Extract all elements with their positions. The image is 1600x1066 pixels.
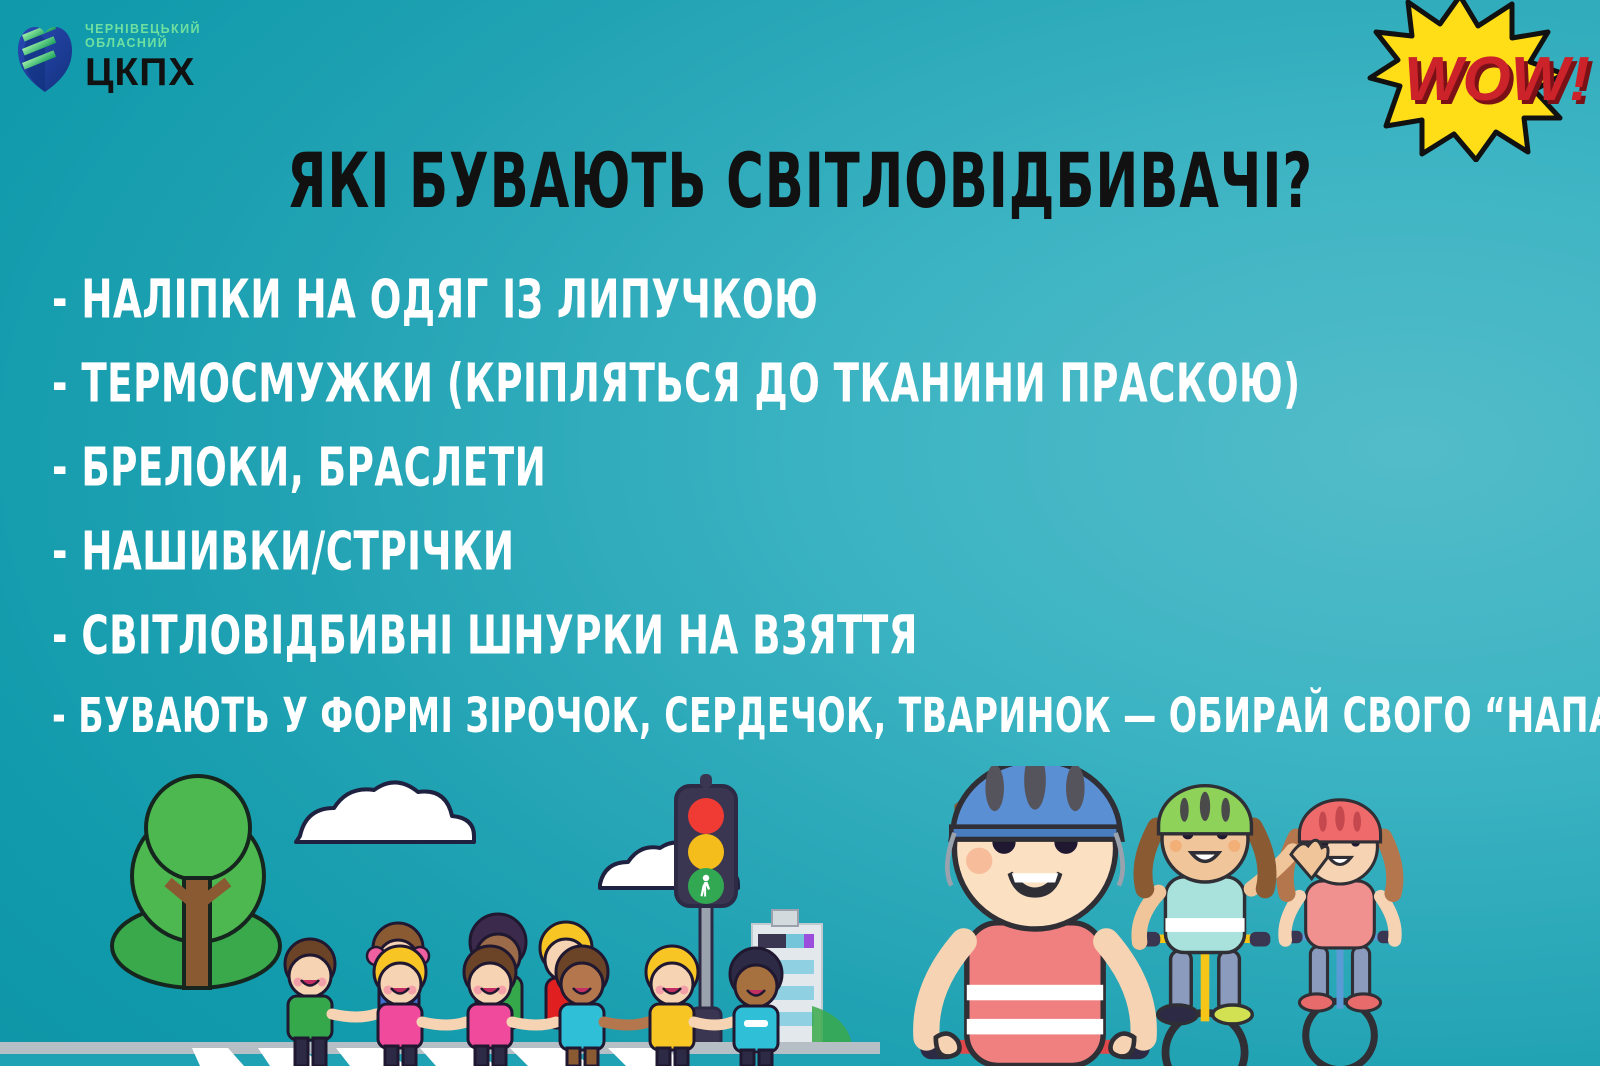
bullet-item-2: - ТЕРМОСМУЖКИ (КРІПЛЯТЬСЯ ДО ТКАНИНИ ПРА…	[52, 356, 1409, 410]
bullet-item-4: - НАШИВКИ/СТРІЧКИ	[52, 524, 1409, 578]
bullet-item-3: - БРЕЛОКИ, БРАСЛЕТИ	[52, 440, 1409, 494]
wow-badge-text: WOW! WOW!	[1404, 45, 1594, 118]
traffic-light-yellow	[688, 834, 724, 870]
logo-line-1: ЧЕРНІВЕЦЬКИЙ	[85, 23, 201, 36]
tree-icon	[112, 776, 280, 988]
traffic-light-red	[688, 798, 724, 834]
svg-text:WOW!: WOW!	[1404, 45, 1590, 114]
illustration-scene	[0, 766, 1600, 1066]
logo-line-2: ОБЛАСНИЙ	[85, 37, 201, 50]
bullet-item-1: - НАЛІПКИ НА ОДЯГ ІЗ ЛИПУЧКОЮ	[52, 272, 1409, 326]
bullet-item-5: - СВІТЛОВІДБИВНІ ШНУРКИ НА ВЗЯТТЯ	[52, 608, 1409, 662]
page-title: ЯКІ БУВАЮТЬ СВІТЛОВІДБИВАЧІ?	[64, 136, 1536, 225]
child-figure	[730, 948, 782, 1066]
logo-abbreviation: ЦКПХ	[85, 53, 201, 92]
cyclist-red-helmet-icon	[1285, 800, 1395, 1066]
cloud-icon	[296, 782, 474, 842]
slide-root: ЧЕРНІВЕЦЬКИЙ ОБЛАСНИЙ ЦКПХ WOW! WOW! ЯКІ…	[0, 0, 1600, 1066]
cyclist-blue-helmet-icon	[920, 766, 1149, 1066]
bullet-item-6: - БУВАЮТЬ У ФОРМІ ЗІРОЧОК, СЕРДЕЧОК, ТВА…	[52, 692, 1409, 740]
bullet-list: - НАЛІПКИ НА ОДЯГ ІЗ ЛИПУЧКОЮ - ТЕРМОСМУ…	[52, 272, 1560, 733]
logo-wordmark: ЧЕРНІВЕЦЬКИЙ ОБЛАСНИЙ ЦКПХ	[85, 23, 201, 92]
shield-heart-icon	[14, 18, 76, 96]
organization-logo: ЧЕРНІВЕЦЬКИЙ ОБЛАСНИЙ ЦКПХ	[14, 18, 201, 96]
